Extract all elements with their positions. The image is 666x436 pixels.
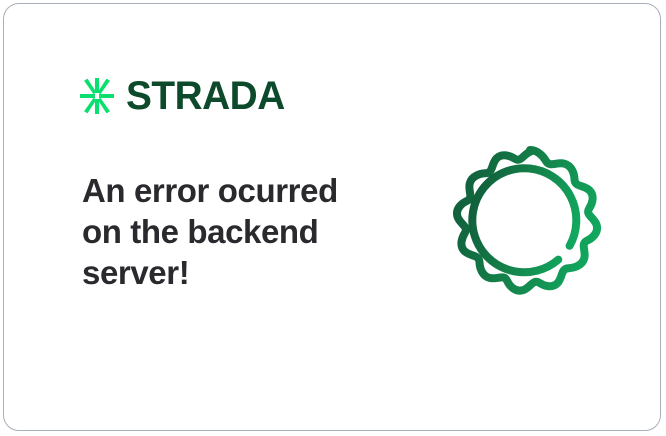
gear-loading-icon — [444, 137, 616, 309]
gear-inner-arc — [472, 168, 576, 272]
brand-wordmark: STRADA — [126, 76, 285, 116]
error-message-line-1: An error ocurred — [82, 170, 372, 211]
error-message: An error ocurred on the backend server! — [82, 170, 372, 293]
brand-lockup: STRADA — [80, 74, 290, 118]
strada-asterisk-icon — [80, 78, 114, 114]
error-message-line-2: on the backend — [82, 211, 372, 252]
error-card: STRADA An error ocurred on the backend s… — [3, 3, 661, 431]
error-message-line-3: server! — [82, 252, 372, 293]
